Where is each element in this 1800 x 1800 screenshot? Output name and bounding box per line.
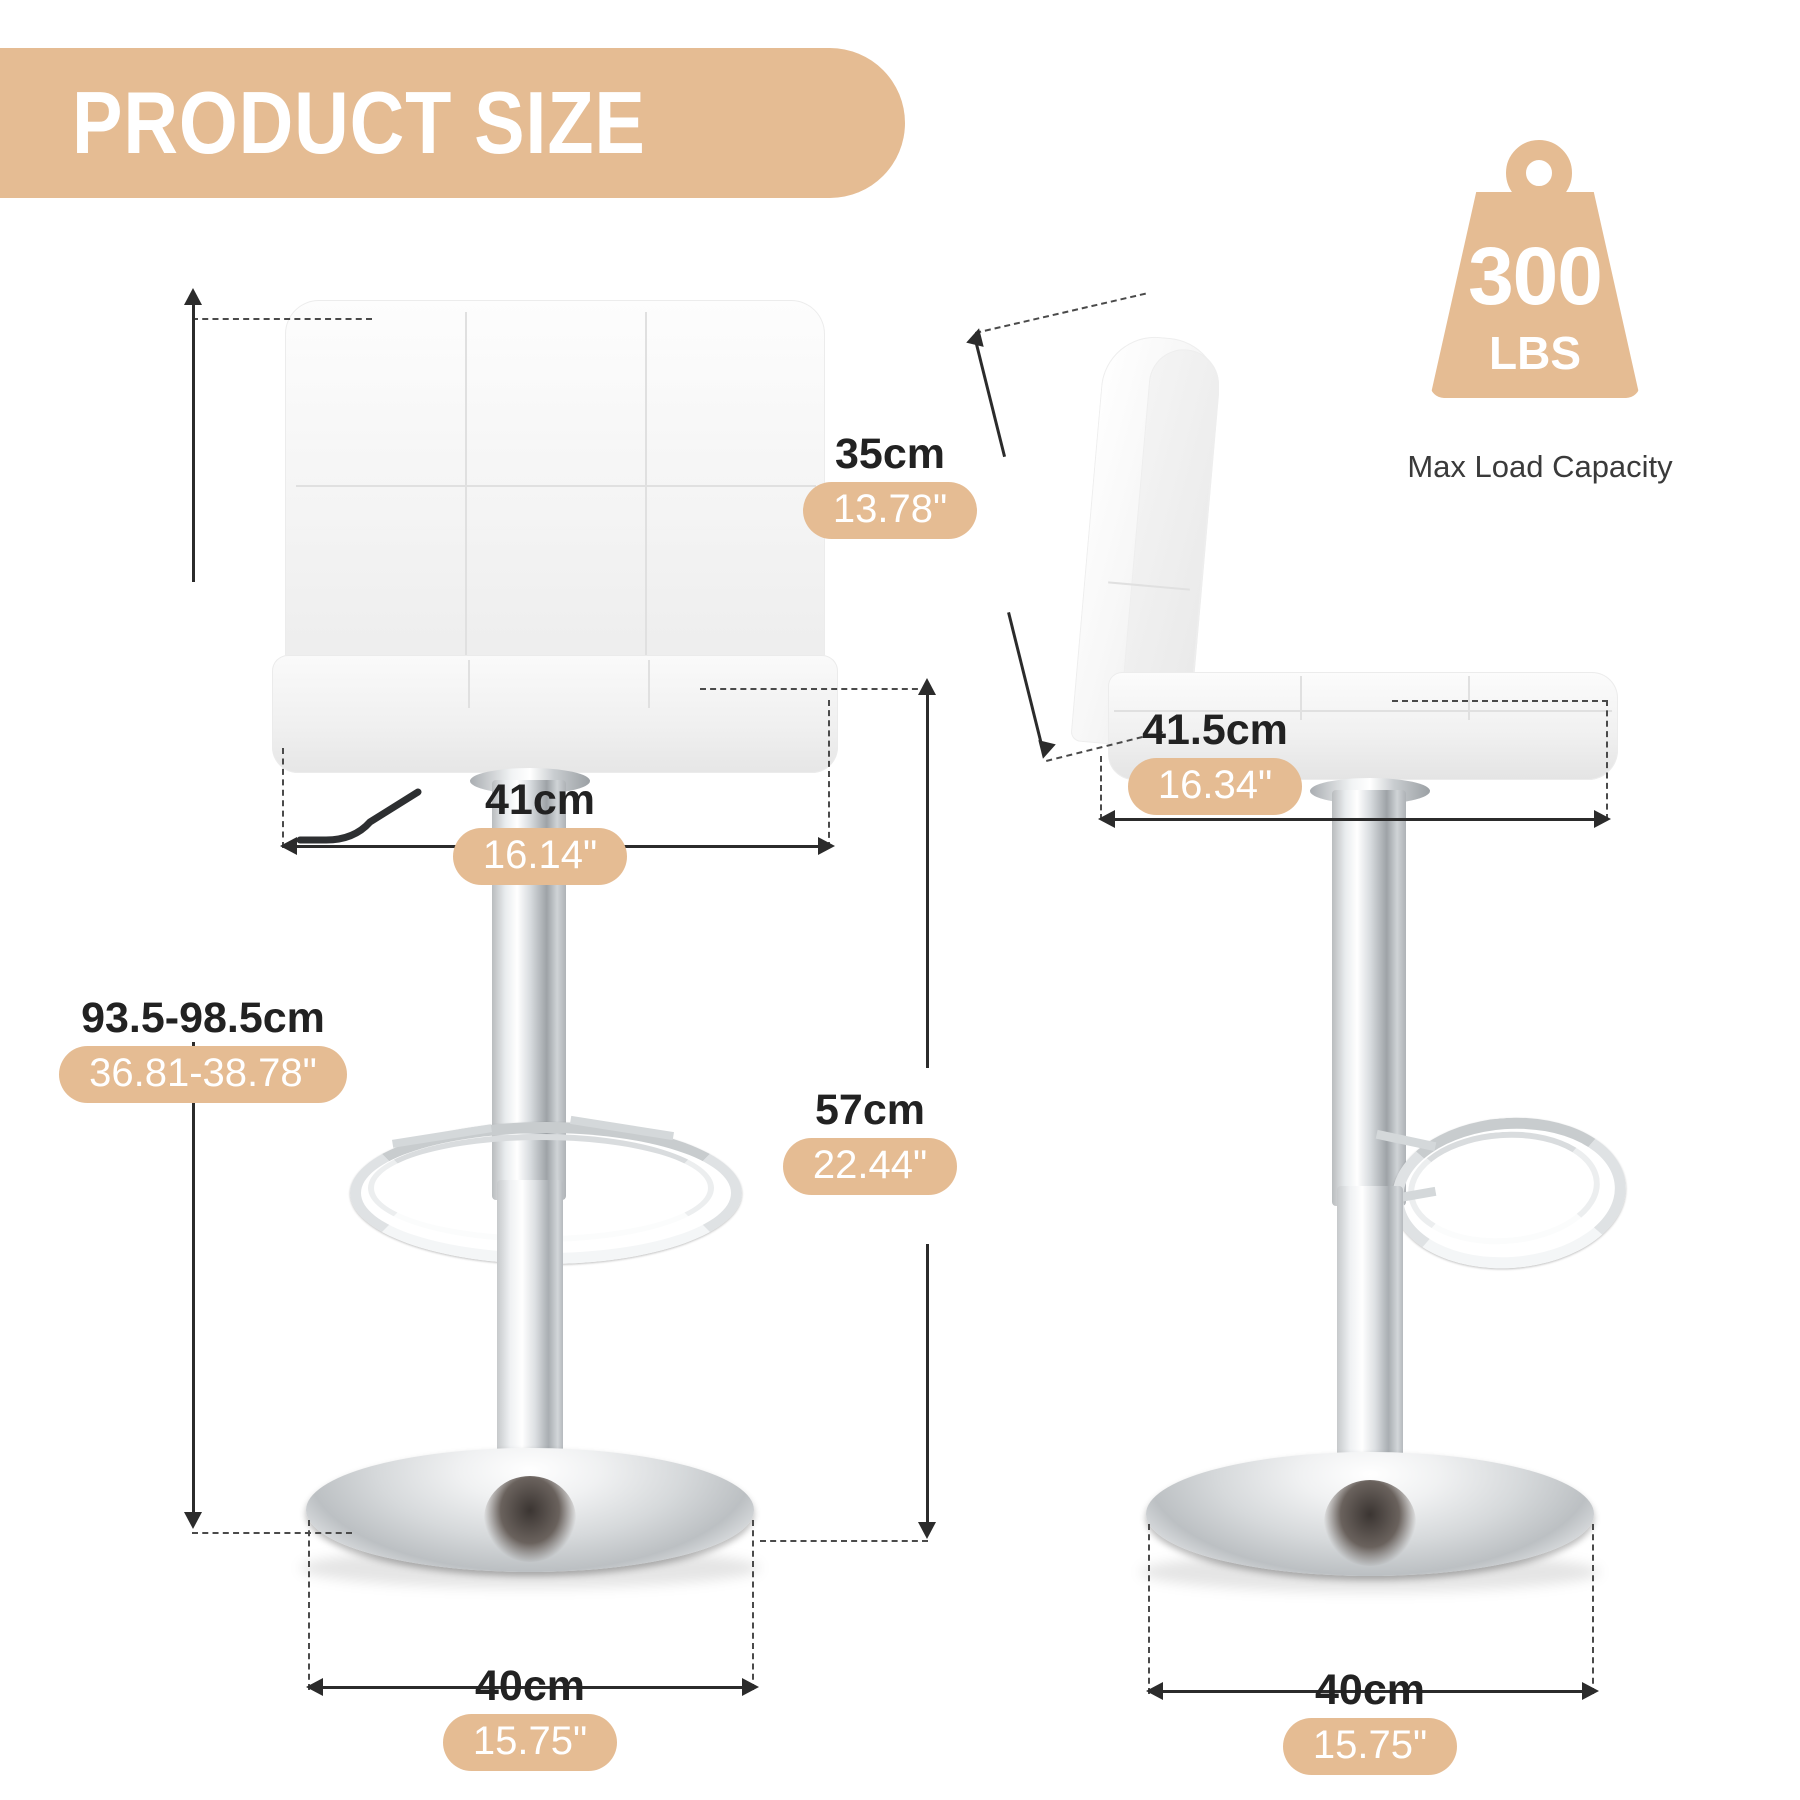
dim-total-height: 93.5-98.5cm 36.81-38.78" <box>38 996 368 1103</box>
dim-total-height-inch: 36.81-38.78" <box>59 1046 347 1103</box>
leader-line <box>192 1532 352 1534</box>
tuft-seam <box>1468 676 1470 720</box>
total-height-line <box>192 1042 195 1520</box>
leader-line <box>192 318 372 320</box>
seat-height-line <box>926 690 929 1068</box>
dim-total-height-cm: 93.5-98.5cm <box>38 996 368 1041</box>
base-reflection <box>484 1476 576 1562</box>
dim-base-width-front: 40cm 15.75" <box>380 1664 680 1771</box>
arrow-left <box>1146 1682 1163 1700</box>
dim-base-width-side-inch: 15.75" <box>1283 1718 1457 1775</box>
dim-back-height-inch: 13.78" <box>803 482 977 539</box>
dim-seat-height: 57cm 22.44" <box>740 1088 1000 1195</box>
total-height-line <box>192 302 195 582</box>
page-title: PRODUCT SIZE <box>72 48 726 198</box>
leader-line <box>760 1540 928 1542</box>
leader-line <box>1606 700 1608 820</box>
product-size-infographic: PRODUCT SIZE 300 LBS Max Load Capacity <box>0 0 1800 1800</box>
seat-depth-line <box>1104 818 1604 821</box>
arrow-up <box>184 288 202 305</box>
arrow-up <box>918 678 936 695</box>
dim-seat-height-inch: 22.44" <box>783 1138 957 1195</box>
leader-line <box>975 293 1146 334</box>
arrow-left <box>306 1678 323 1696</box>
back-height-line <box>1007 612 1044 749</box>
dim-seat-width-cm: 41cm <box>400 778 680 823</box>
arrow-right <box>742 1678 759 1696</box>
arrow-left <box>280 837 297 855</box>
weight-value: 300 <box>1430 236 1640 318</box>
leader-line <box>1592 1524 1594 1694</box>
leader-line <box>700 688 928 690</box>
dim-seat-depth-inch: 16.34" <box>1128 758 1302 815</box>
dim-seat-width: 41cm 16.14" <box>400 778 680 885</box>
dim-back-height-cm: 35cm <box>770 432 1010 477</box>
dim-base-width-side: 40cm 15.75" <box>1220 1668 1520 1775</box>
dim-seat-height-cm: 57cm <box>740 1088 1000 1133</box>
tuft-seam <box>465 312 467 712</box>
weight-unit: LBS <box>1430 330 1640 376</box>
dim-seat-width-inch: 16.14" <box>453 828 627 885</box>
dim-seat-depth: 41.5cm 16.34" <box>1070 708 1360 815</box>
leader-line <box>282 748 284 848</box>
arrow-down <box>184 1512 202 1529</box>
dim-seat-depth-cm: 41.5cm <box>1070 708 1360 753</box>
seat-height-line <box>926 1244 929 1530</box>
leader-line <box>828 700 830 848</box>
arrow-right <box>818 837 835 855</box>
dim-base-width-front-cm: 40cm <box>380 1664 680 1709</box>
leader-line <box>308 1520 310 1690</box>
tuft-seam <box>648 660 650 708</box>
chrome-column-upper <box>1332 790 1406 1206</box>
tuft-seam <box>645 312 647 712</box>
arrow-right <box>1582 1682 1599 1700</box>
front-seat <box>272 655 838 773</box>
base-reflection <box>1324 1480 1416 1566</box>
dim-base-width-front-inch: 15.75" <box>443 1714 617 1771</box>
dim-back-height: 35cm 13.78" <box>770 432 1010 539</box>
tuft-seam <box>296 485 816 487</box>
arrow-down <box>918 1522 936 1539</box>
leader-line <box>1392 700 1608 702</box>
tuft-seam <box>468 660 470 708</box>
arrow-up <box>966 326 988 347</box>
max-load-caption: Max Load Capacity <box>1395 449 1685 485</box>
leader-line <box>752 1520 754 1690</box>
weight-icon: 300 LBS <box>1430 140 1640 420</box>
dim-base-width-side-cm: 40cm <box>1220 1668 1520 1713</box>
leader-line <box>1148 1524 1150 1694</box>
arrow-right <box>1594 810 1611 828</box>
